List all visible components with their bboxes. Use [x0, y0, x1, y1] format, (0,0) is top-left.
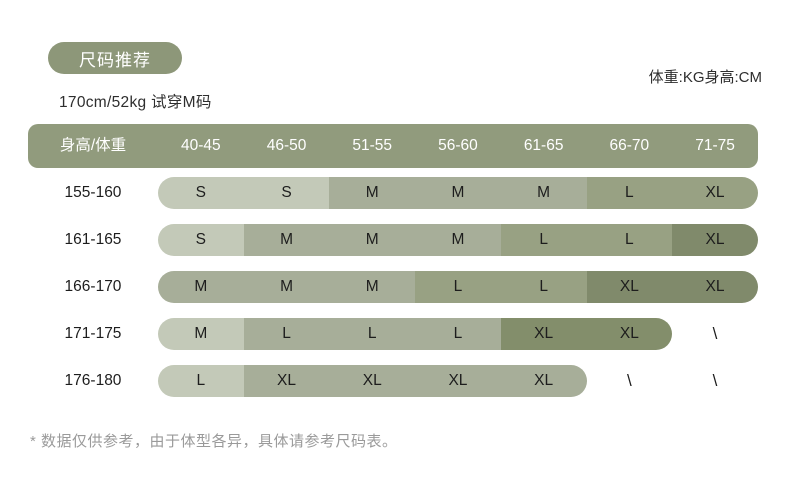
header-cell-weight-66-70: 66-70 [587, 124, 673, 168]
cell-size-value: S [244, 177, 330, 209]
cell-size-value: M [244, 224, 330, 256]
cell-size-value: L [244, 318, 330, 350]
cell-not-available: \ [587, 365, 673, 397]
cell-size-value: L [415, 318, 501, 350]
cell-size-value: M [329, 271, 415, 303]
cell-size-value: XL [587, 318, 673, 350]
cell-size-value: M [244, 271, 330, 303]
cell-size-value: XL [501, 318, 587, 350]
cell-not-available: \ [672, 365, 758, 397]
cell-size-value: M [415, 224, 501, 256]
cell-size-value: XL [672, 224, 758, 256]
row-label-height-166-170: 166-170 [28, 265, 158, 309]
size-recommendation-chart: 尺码推荐 170cm/52kg 试穿M码 体重:KG身高:CM 身高/体重40-… [0, 0, 790, 486]
row-label-height-176-180: 176-180 [28, 359, 158, 403]
cell-size-value: XL [672, 177, 758, 209]
header-cell-weight-71-75: 71-75 [672, 124, 758, 168]
header-cell-weight-51-55: 51-55 [329, 124, 415, 168]
row-label-height-171-175: 171-175 [28, 312, 158, 356]
cell-size-value: M [501, 177, 587, 209]
header-cell-weight-40-45: 40-45 [158, 124, 244, 168]
cell-size-value: XL [244, 365, 330, 397]
header-cell-weight-46-50: 46-50 [244, 124, 330, 168]
cell-size-value: XL [415, 365, 501, 397]
header-cell-weight-56-60: 56-60 [415, 124, 501, 168]
cell-size-value: L [587, 224, 673, 256]
table-row: 171-175MLLLXLXL\ [0, 312, 790, 359]
title-badge-label: 尺码推荐 [79, 46, 151, 71]
cell-size-value: L [587, 177, 673, 209]
cell-size-value: L [501, 224, 587, 256]
table-row: 155-160SSMMMLXL [0, 171, 790, 218]
disclaimer-note: * 数据仅供参考，由于体型各异，具体请参考尺码表。 [30, 430, 398, 451]
table-row: 161-165SMMMLLXL [0, 218, 790, 265]
cell-size-value: XL [587, 271, 673, 303]
cell-size-value: S [158, 224, 244, 256]
table-row: 166-170MMMLLXLXL [0, 265, 790, 312]
units-note: 体重:KG身高:CM [649, 66, 762, 87]
cell-size-value: M [329, 177, 415, 209]
cell-size-value: S [158, 177, 244, 209]
cell-size-value: L [329, 318, 415, 350]
size-table: 身高/体重40-4546-5051-5556-6061-6566-7071-75… [0, 124, 790, 406]
model-reference-text: 170cm/52kg 试穿M码 [59, 90, 212, 112]
cell-size-value: M [158, 318, 244, 350]
cell-size-value: L [158, 365, 244, 397]
table-header-row: 身高/体重40-4546-5051-5556-6061-6566-7071-75 [0, 124, 790, 171]
cell-size-value: XL [329, 365, 415, 397]
cell-size-value: M [158, 271, 244, 303]
cell-not-available: \ [672, 318, 758, 350]
header-corner-label: 身高/体重 [28, 124, 158, 168]
row-label-height-161-165: 161-165 [28, 218, 158, 262]
cell-size-value: XL [501, 365, 587, 397]
cell-size-value: M [329, 224, 415, 256]
cell-size-value: L [501, 271, 587, 303]
row-label-height-155-160: 155-160 [28, 171, 158, 215]
cell-size-value: M [415, 177, 501, 209]
title-badge: 尺码推荐 [48, 42, 182, 74]
cell-size-value: XL [672, 271, 758, 303]
cell-size-value: L [415, 271, 501, 303]
table-row: 176-180LXLXLXLXL\\ [0, 359, 790, 406]
header-cell-weight-61-65: 61-65 [501, 124, 587, 168]
